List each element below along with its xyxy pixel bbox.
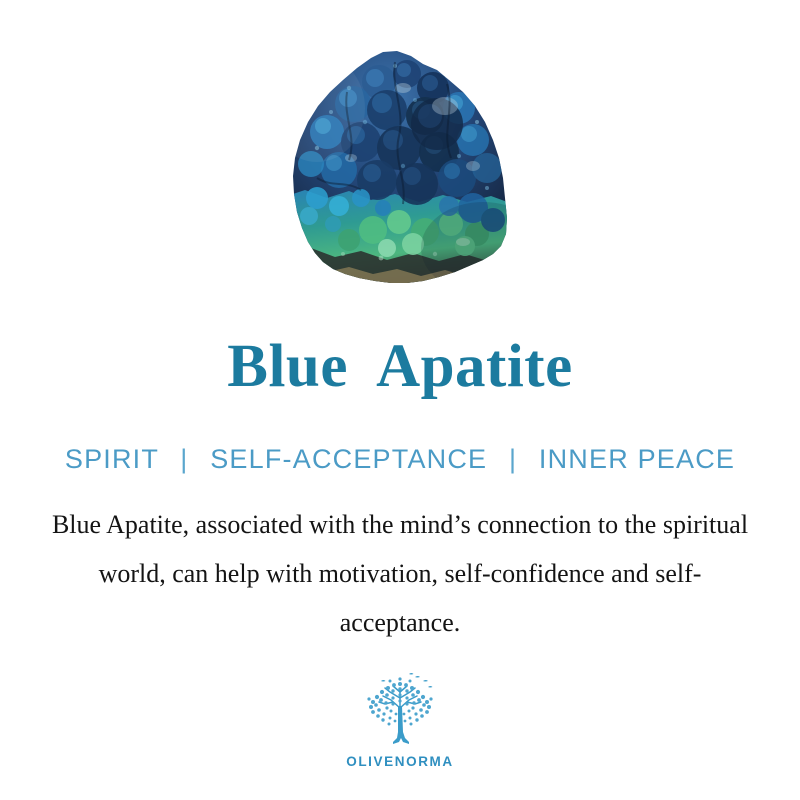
keyword-list: SPIRIT | SELF-ACCEPTANCE | INNER PEACE [0, 443, 800, 475]
keyword-separator-1: | [167, 444, 201, 474]
tree-of-life-icon [357, 672, 443, 752]
page-title: Blue Apatite [0, 334, 800, 400]
blue-apatite-stone-illustration [287, 48, 513, 288]
brand-logo: OLIVENORMA [0, 672, 800, 769]
brand-name: OLIVENORMA [346, 754, 454, 769]
product-info-card: Blue Apatite SPIRIT | SELF-ACCEPTANCE | … [0, 0, 800, 800]
keyword-inner-peace: INNER PEACE [539, 444, 735, 474]
keyword-separator-2: | [496, 444, 530, 474]
product-description: Blue Apatite, associated with the mind’s… [40, 500, 760, 647]
keyword-self-acceptance: SELF-ACCEPTANCE [210, 444, 487, 474]
keyword-spirit: SPIRIT [65, 444, 159, 474]
product-image [0, 38, 800, 288]
